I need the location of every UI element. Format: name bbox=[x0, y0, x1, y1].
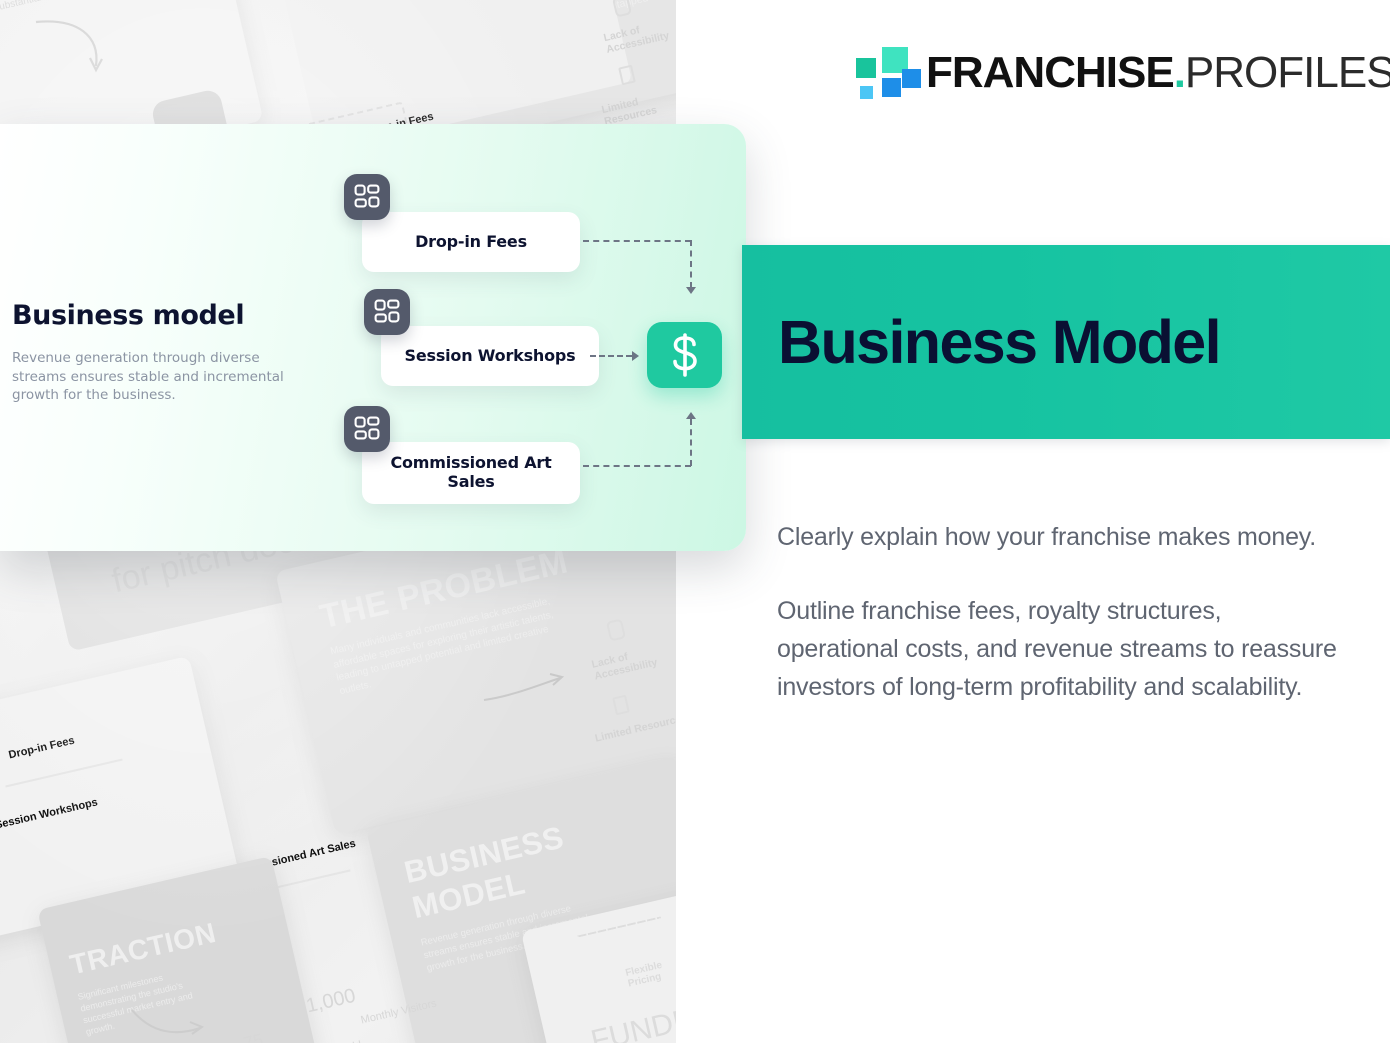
logo-square-5 bbox=[860, 86, 873, 99]
slide-page: MARKET spaces in urban and a substantial… bbox=[0, 0, 1390, 1043]
stream-label: Commissioned Art Sales bbox=[378, 454, 564, 492]
stream-card-session-workshops[interactable]: Session Workshops bbox=[381, 326, 599, 386]
grid-squares-icon bbox=[344, 174, 390, 220]
connector-bottom-horizontal bbox=[583, 465, 691, 467]
connector-top-horizontal bbox=[583, 240, 691, 242]
brand-name-bold: FRANCHISE bbox=[926, 48, 1174, 97]
description-paragraph-2: Outline franchise fees, royalty structur… bbox=[777, 592, 1347, 706]
brand-name-light: PROFILES bbox=[1185, 48, 1390, 97]
logo-square-1 bbox=[856, 58, 876, 78]
brand-name-dot: . bbox=[1174, 48, 1185, 97]
stream-card-commissioned-art-sales[interactable]: Commissioned Art Sales bbox=[362, 442, 580, 504]
section-banner: Business Model bbox=[742, 245, 1390, 439]
arrowhead-top-icon bbox=[686, 287, 696, 294]
connector-top-vertical bbox=[690, 240, 692, 288]
arrowhead-middle-icon bbox=[632, 351, 639, 361]
slide-preview-subtitle: Revenue generation through diverse strea… bbox=[12, 349, 304, 405]
slide-preview-title: Business model bbox=[12, 300, 332, 331]
grid-squares-icon bbox=[364, 289, 410, 335]
logo-square-4 bbox=[902, 69, 921, 88]
stream-label: Session Workshops bbox=[405, 347, 576, 366]
dollar-sign-icon[interactable] bbox=[647, 322, 722, 388]
connector-middle-horizontal bbox=[590, 355, 632, 357]
slide-preview-heading-block: Business model Revenue generation throug… bbox=[12, 300, 332, 405]
logo-square-3 bbox=[882, 78, 901, 97]
stream-label: Drop-in Fees bbox=[415, 233, 527, 252]
grid-squares-icon bbox=[344, 406, 390, 452]
stream-card-drop-in-fees[interactable]: Drop-in Fees bbox=[362, 212, 580, 272]
bg-arrow-icon bbox=[30, 14, 110, 87]
slide-preview-card: Business model Revenue generation throug… bbox=[0, 124, 746, 551]
brand-wordmark: FRANCHISE.PROFILES bbox=[926, 51, 1390, 95]
squares-mark-icon bbox=[852, 44, 908, 102]
connector-bottom-vertical bbox=[690, 419, 692, 466]
bg-arrow-icon bbox=[480, 670, 570, 717]
page-title: Business Model bbox=[778, 307, 1220, 377]
bg-arrow-icon bbox=[128, 1000, 208, 1043]
arrowhead-bottom-icon bbox=[686, 412, 696, 419]
bg-stat-value: 1,000 bbox=[304, 985, 358, 1019]
description-paragraph-1: Clearly explain how your franchise makes… bbox=[777, 518, 1347, 556]
description-block: Clearly explain how your franchise makes… bbox=[777, 518, 1347, 706]
brand-logo[interactable]: FRANCHISE.PROFILES bbox=[852, 44, 1390, 102]
